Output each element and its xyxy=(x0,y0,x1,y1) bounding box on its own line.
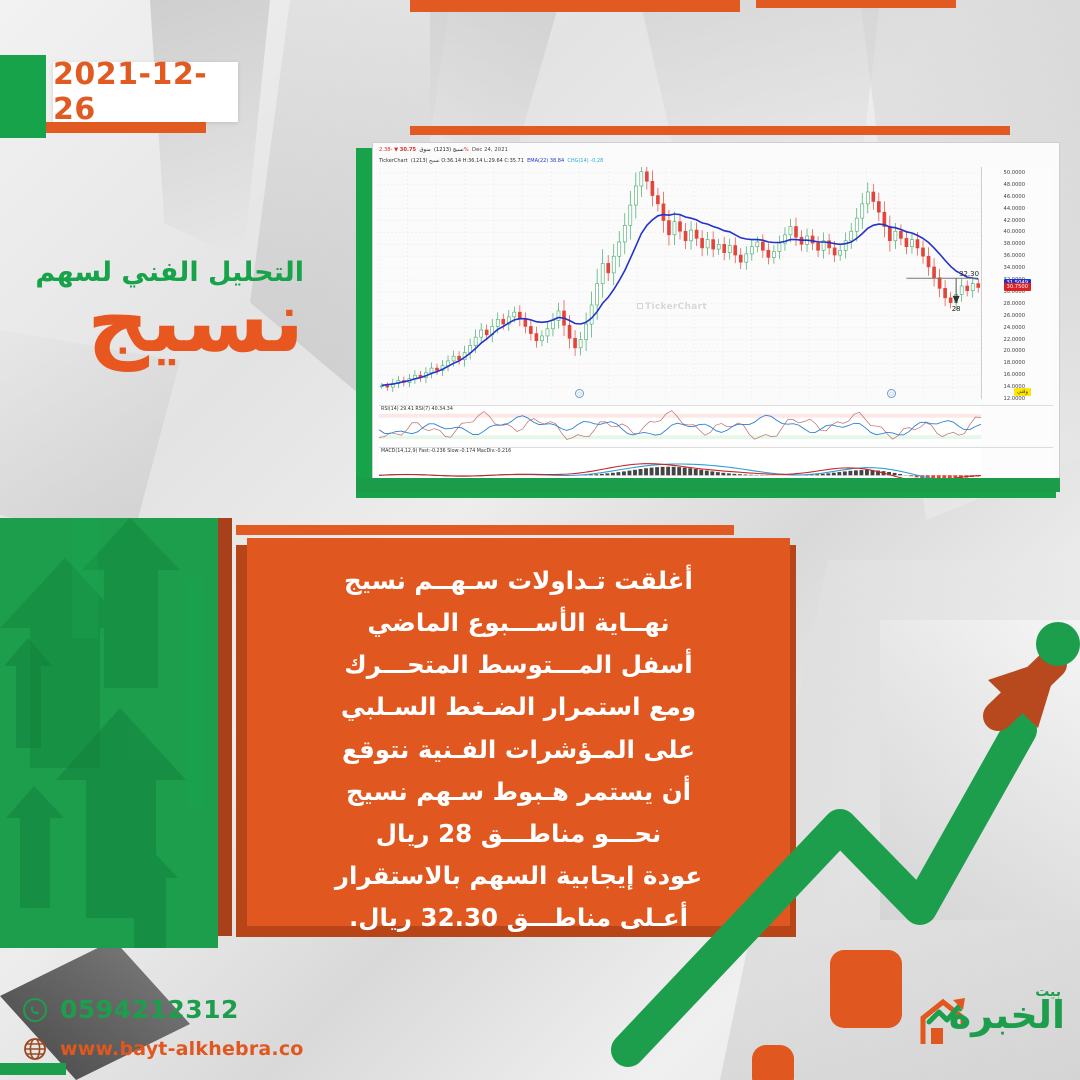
green-arrows-svg xyxy=(0,518,218,948)
body-divider-bar xyxy=(236,525,734,535)
price-tick-label: 12.0000 xyxy=(1004,396,1025,402)
rsi-label: RSI(14) 29.41 RSI(7) 40.34.34 xyxy=(381,407,453,412)
panel-side-strip xyxy=(218,518,232,936)
analysis-line: أغلقت تـداولات سـهــم نسيج xyxy=(273,560,764,602)
price-tick-label: 26.0000 xyxy=(1004,313,1025,319)
date-badge-underline xyxy=(46,122,206,133)
headline-block: التحليل الفني لسهم نسيج xyxy=(0,258,318,363)
brand-logo[interactable]: بيت الخبرة xyxy=(915,980,1065,1065)
contact-website[interactable]: www.bayt-alkhebra.co xyxy=(22,1036,304,1062)
chart-chg-label: CHG(14) -0.28 xyxy=(567,158,603,164)
price-tick-label: 48.0000 xyxy=(1004,182,1025,188)
phone-number: 0594212312 xyxy=(60,995,239,1024)
price-axis: 50.000048.000046.000044.000042.000040.00… xyxy=(981,167,1053,399)
price-tick-label: 34.0000 xyxy=(1004,265,1025,271)
price-chart-pane: 32.3028 TickerChart ○○ xyxy=(379,167,981,399)
timeframe-tag: وقتي xyxy=(1014,388,1031,396)
watermark-box-icon xyxy=(637,303,643,309)
chart-event-marker[interactable]: ○ xyxy=(575,389,584,398)
chart-ticker: نسيج (1213) xyxy=(434,147,464,153)
date-badge-accent xyxy=(0,55,46,138)
stock-chart-card: نسيج (1213) سوق 30.75 ▼ -2.38% Dec 24, 2… xyxy=(372,142,1060,488)
price-tick-label: 42.0000 xyxy=(1004,218,1025,224)
headline-title: نسيج xyxy=(0,282,318,364)
target-annotation: 28 xyxy=(952,305,961,313)
chart-down-arrow-icon: ▼ xyxy=(394,147,398,153)
chart-ohlc: نسيج (1213) O:36.14 H:36.14 L:29.64 C:35… xyxy=(411,158,524,164)
chart-event-marker[interactable]: ○ xyxy=(887,389,896,398)
price-tick-label: 28.0000 xyxy=(1004,301,1025,307)
price-tick-label: 46.0000 xyxy=(1004,194,1025,200)
rsi-svg xyxy=(379,406,981,445)
chart-watermark: TickerChart xyxy=(637,302,707,312)
rsi-indicator-pane: RSI(14) 29.41 RSI(7) 40.34.34 xyxy=(379,405,981,445)
price-tick-label: 20.0000 xyxy=(1004,348,1025,354)
price-tick-label: 38.0000 xyxy=(1004,241,1025,247)
decorative-strip xyxy=(0,1063,66,1075)
chart-source-label: TickerChart xyxy=(379,158,408,164)
last-price-tag: 30.7500 xyxy=(1004,283,1031,291)
price-tick-label: 18.0000 xyxy=(1004,360,1025,366)
macd-label: MACD(14,12,9) Fast:-0.236 Slow:-0.174 Ma… xyxy=(381,449,511,454)
chart-card-green-edge xyxy=(356,478,1060,492)
globe-icon xyxy=(22,1036,48,1062)
price-tick-label: 44.0000 xyxy=(1004,206,1025,212)
candlestick-svg: 32.3028 xyxy=(379,167,981,399)
price-tick-label: 40.0000 xyxy=(1004,229,1025,235)
contact-phone[interactable]: 0594212312 xyxy=(22,995,239,1024)
price-tick-label: 50.0000 xyxy=(1004,170,1025,176)
logo-maintext: الخبرة xyxy=(949,996,1065,1034)
rsi-axis xyxy=(981,405,1053,445)
resistance-annotation: 32.30 xyxy=(959,270,979,278)
chart-quote-date: Dec 24, 2021 xyxy=(472,147,508,153)
date-badge: 2021-12-26 xyxy=(53,62,238,122)
price-tick-label: 22.0000 xyxy=(1004,337,1025,343)
chart-ema-label: EMA(22) 38.84 xyxy=(527,158,564,164)
price-tick-label: 36.0000 xyxy=(1004,253,1025,259)
whatsapp-icon xyxy=(22,997,48,1023)
infographic-poster: 2021-12-26 التحليل الفني لسهم نسيج نسيج … xyxy=(0,0,1080,1080)
date-badge-text: 2021-12-26 xyxy=(53,57,238,127)
price-tick-label: 16.0000 xyxy=(1004,372,1025,378)
price-tick-label: 24.0000 xyxy=(1004,325,1025,331)
website-url: www.bayt-alkhebra.co xyxy=(60,1038,304,1060)
decorative-square xyxy=(830,950,902,1028)
chart-last-price: 30.75 xyxy=(400,147,416,153)
top-accent-bar xyxy=(410,0,740,12)
decorative-green-arrow-panel xyxy=(0,518,218,948)
decorative-square xyxy=(752,1045,794,1080)
top-accent-bar-secondary xyxy=(756,0,956,8)
chart-header-secondary: TickerChart نسيج (1213) O:36.14 H:36.14 … xyxy=(379,158,1053,167)
watermark-text: TickerChart xyxy=(645,302,707,312)
chart-market: سوق xyxy=(419,147,430,153)
chart-header-primary: نسيج (1213) سوق 30.75 ▼ -2.38% Dec 24, 2… xyxy=(379,147,1053,156)
header-divider-bar xyxy=(410,126,1010,135)
